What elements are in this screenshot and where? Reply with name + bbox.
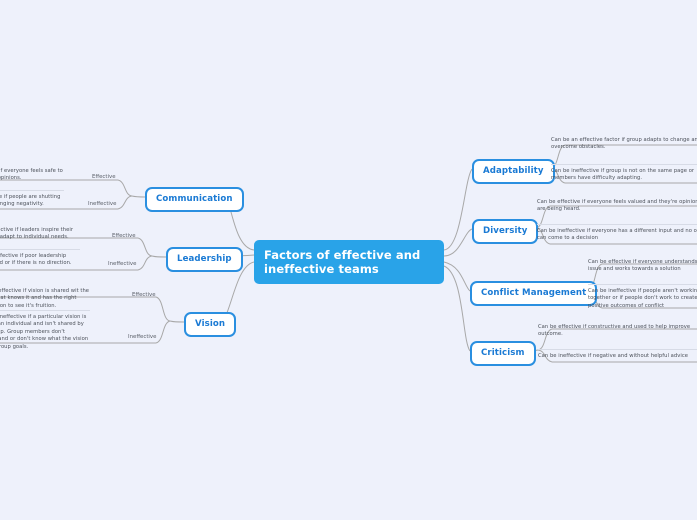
edge-label-ineffective-leadership: Ineffective [108,261,136,268]
branch-node-communication[interactable]: Communication [145,187,244,212]
edge-label-ineffective-communication: Ineffective [88,201,116,208]
leaf-leadership-ineffective: Can be ineffective if poor leadership st… [0,249,80,268]
branch-label: Diversity [483,226,527,236]
leaf-conflict-management-effective: Can be effective if everyone understands… [588,256,697,274]
edge-label-effective-communication: Effective [92,174,116,181]
leaf-diversity-effective: Can be effective if everyone feels value… [537,196,697,214]
branch-node-diversity[interactable]: Diversity [472,219,538,244]
leaf-adaptability-effective: Can be an effective factor if group adap… [551,134,697,152]
mindmap-canvas: Factors of effective and ineffective tea… [0,0,697,520]
branch-label: Leadership [177,254,232,264]
central-node-label: Factors of effective and ineffective tea… [264,248,420,276]
leaf-vision-ineffective: Can be ineffective if a particular visio… [0,310,90,351]
branch-label: Vision [195,319,225,329]
leaf-leadership-effective: Can be effective if leaders inspire thei… [0,224,80,242]
leaf-criticism-effective: Can be effective if constructive and use… [538,321,697,339]
edge-label-effective-leadership: Effective [112,233,136,240]
central-node[interactable]: Factors of effective and ineffective tea… [254,240,444,284]
branch-label: Adaptability [483,166,544,176]
leaf-vision-effective: Can be effective if vision is shared wit… [0,285,90,310]
branch-node-criticism[interactable]: Criticism [470,341,536,366]
branch-node-adaptability[interactable]: Adaptability [472,159,555,184]
leaf-conflict-management-ineffective: Can be ineffective if people aren't work… [588,284,697,310]
branch-node-conflict-management[interactable]: Conflict Management [470,281,597,306]
leaf-communication-ineffective: Can be ineffective if people are shuttin… [0,190,64,209]
edge-label-ineffective-vision: Ineffective [128,334,156,341]
branch-node-leadership[interactable]: Leadership [166,247,243,272]
branch-label: Criticism [481,348,525,358]
leaf-adaptability-ineffective: Can be ineffective if group is not on th… [551,164,697,183]
edge-label-effective-vision: Effective [132,292,156,299]
leaf-communication-effective: Can be effective if everyone feels safe … [0,165,64,183]
leaf-criticism-ineffective: Can be ineffective if negative and witho… [538,349,697,360]
branch-label: Conflict Management [481,288,586,298]
leaf-diversity-ineffective: Can be ineffective if everyone has a dif… [537,224,697,243]
branch-label: Communication [156,194,233,204]
branch-node-vision[interactable]: Vision [184,312,236,337]
